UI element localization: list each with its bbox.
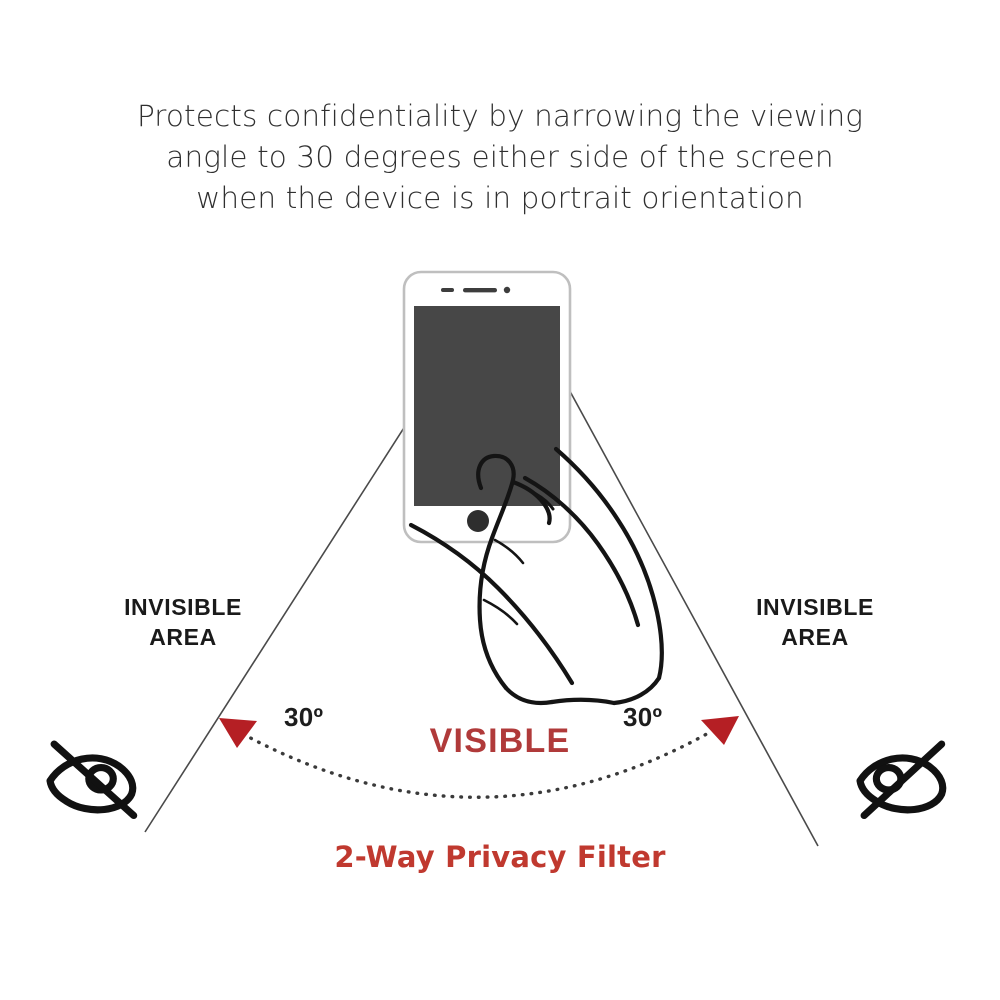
home-button-icon <box>467 510 489 532</box>
eye-slash-icon-left <box>50 744 134 815</box>
wrist-right-edge <box>614 678 659 703</box>
angle-label-left: 30º <box>284 702 323 733</box>
phone-screen <box>414 306 560 506</box>
invisible-area-label-left: INVISIBLE AREA <box>68 592 298 652</box>
product-name-label: 2-Way Privacy Filter <box>250 840 750 874</box>
eye-slash-icon-right <box>860 744 943 815</box>
diagram-canvas: Protects confidentiality by narrowing th… <box>0 0 1000 1000</box>
invisible-area-label-right: INVISIBLE AREA <box>700 592 930 652</box>
front-camera-icon <box>504 287 510 293</box>
earpiece-speaker-icon <box>463 288 497 292</box>
wrist-left-edge <box>506 688 552 703</box>
visible-area-label: VISIBLE <box>350 722 650 761</box>
arrowhead-left <box>219 718 257 748</box>
arrowhead-right <box>701 716 739 745</box>
finger-crease-upper <box>495 540 523 563</box>
proximity-sensor-icon <box>441 288 454 292</box>
wrist-bottom <box>552 700 614 703</box>
